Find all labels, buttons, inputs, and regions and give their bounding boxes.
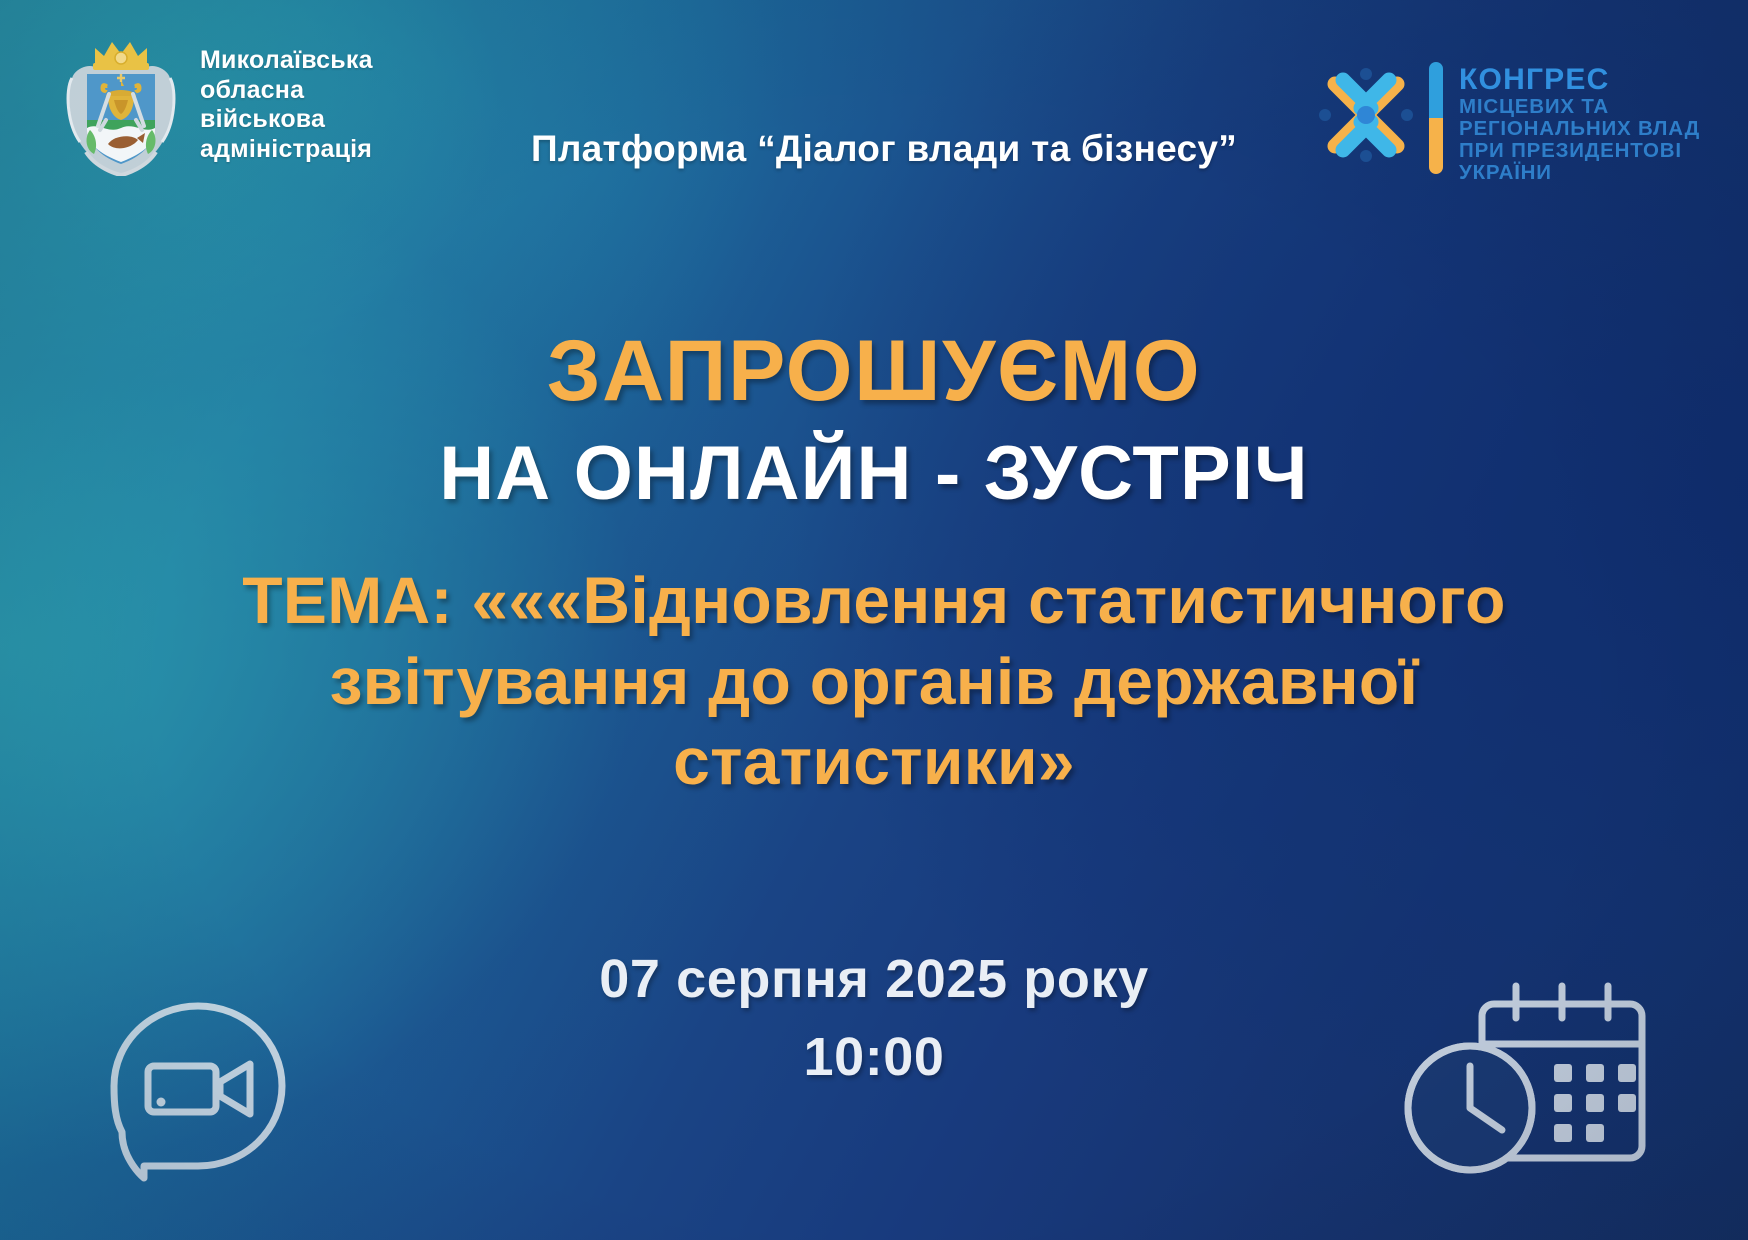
theme-line-1: ТЕМА: «««Відновлення статистичного — [60, 560, 1688, 641]
congress-line-4: при Президентові — [1459, 140, 1700, 162]
theme-line-2: звітування до органів державної — [60, 641, 1688, 722]
theme-line-3: статистики» — [60, 721, 1688, 802]
ukraine-flag-bar-icon — [1429, 62, 1443, 174]
video-chat-bubble-icon — [100, 992, 296, 1188]
congress-line-1: Конгрес — [1459, 64, 1700, 96]
congress-line-2: місцевих та — [1459, 96, 1700, 118]
calendar-clock-icon — [1404, 978, 1652, 1192]
congress-line-5: України — [1459, 162, 1700, 184]
poster-header: Миколаївська обласна військова адміністр… — [0, 0, 1748, 210]
congress-brand: Конгрес місцевих та регіональних влад пр… — [1313, 58, 1700, 184]
theme-block: ТЕМА: «««Відновлення статистичного звіту… — [60, 560, 1688, 802]
congress-line-3: регіональних влад — [1459, 118, 1700, 140]
invitation-poster: Миколаївська обласна військова адміністр… — [0, 0, 1748, 1240]
congress-pinwheel-icon — [1313, 62, 1419, 168]
meeting-subheading: НА ОНЛАЙН - ЗУСТРІЧ — [0, 430, 1748, 517]
administration-line-1: Миколаївська — [200, 46, 373, 76]
invite-heading: ЗАПРОШУЄМО — [0, 322, 1748, 421]
congress-name: Конгрес місцевих та регіональних влад пр… — [1459, 58, 1700, 184]
administration-line-2: обласна — [200, 76, 373, 106]
